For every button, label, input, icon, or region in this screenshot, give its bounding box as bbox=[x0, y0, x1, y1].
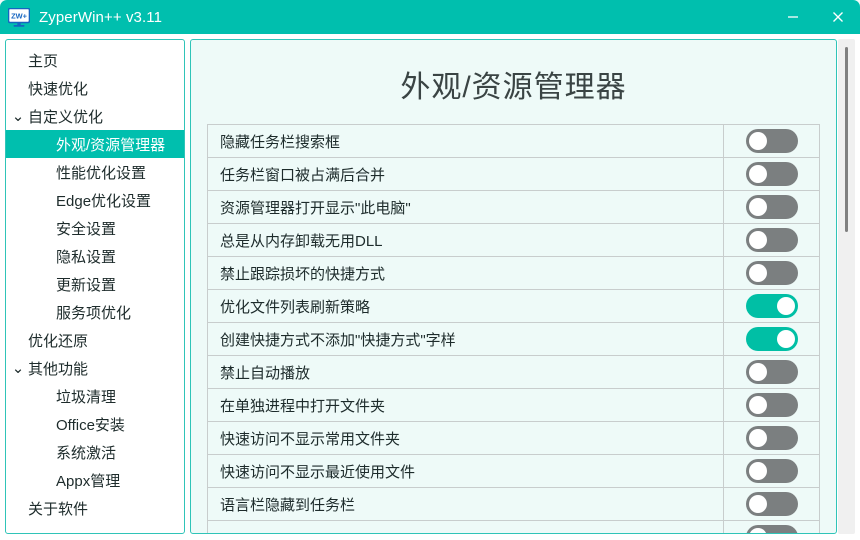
sidebar-item-update-settings[interactable]: 更新设置 bbox=[6, 270, 184, 298]
window-body: 主页快速优化⌄自定义优化外观/资源管理器性能优化设置Edge优化设置安全设置隐私… bbox=[0, 34, 860, 540]
sidebar-item-label: 性能优化设置 bbox=[56, 162, 146, 183]
sidebar-item-quick-optimize[interactable]: 快速优化 bbox=[6, 74, 184, 102]
setting-label: 优化文件列表刷新策略 bbox=[208, 296, 723, 317]
toggle-switch[interactable] bbox=[746, 327, 798, 351]
setting-label: 禁止自动播放 bbox=[208, 362, 723, 383]
sidebar-item-restore[interactable]: 优化还原 bbox=[6, 326, 184, 354]
toggle-knob bbox=[749, 396, 767, 414]
vertical-scrollbar[interactable] bbox=[838, 39, 855, 534]
sidebar-item-other-functions[interactable]: ⌄其他功能 bbox=[6, 354, 184, 382]
toggle-knob bbox=[749, 495, 767, 513]
setting-label: 快速访问不显示最近使用文件 bbox=[208, 461, 723, 482]
setting-toggle-cell[interactable] bbox=[723, 191, 819, 223]
sidebar-item-office-install[interactable]: Office安装 bbox=[6, 410, 184, 438]
close-icon bbox=[831, 10, 845, 24]
settings-table: 隐藏任务栏搜索框任务栏窗口被占满后合并资源管理器打开显示"此电脑"总是从内存卸载… bbox=[207, 124, 820, 533]
setting-toggle-cell[interactable] bbox=[723, 455, 819, 487]
sidebar-nav: 主页快速优化⌄自定义优化外观/资源管理器性能优化设置Edge优化设置安全设置隐私… bbox=[5, 39, 185, 534]
toggle-switch[interactable] bbox=[746, 426, 798, 450]
setting-row: 总是从内存卸载无用DLL bbox=[208, 224, 819, 257]
sidebar-item-label: 隐私设置 bbox=[56, 246, 116, 267]
setting-label: 创建快捷方式不添加"快捷方式"字样 bbox=[208, 329, 723, 350]
toggle-knob bbox=[749, 231, 767, 249]
setting-row: 语言栏隐藏到任务栏 bbox=[208, 488, 819, 521]
setting-row: 禁止跟踪损坏的快捷方式 bbox=[208, 257, 819, 290]
setting-row: 快速访问不显示最近使用文件 bbox=[208, 455, 819, 488]
setting-label: 任务栏窗口被占满后合并 bbox=[208, 164, 723, 185]
sidebar-item-security-settings[interactable]: 安全设置 bbox=[6, 214, 184, 242]
setting-label: 在单独进程中打开文件夹 bbox=[208, 395, 723, 416]
toggle-switch[interactable] bbox=[746, 261, 798, 285]
sidebar-item-label: Edge优化设置 bbox=[56, 190, 151, 211]
setting-toggle-cell[interactable] bbox=[723, 356, 819, 388]
toggle-knob bbox=[749, 165, 767, 183]
sidebar-item-system-activation[interactable]: 系统激活 bbox=[6, 438, 184, 466]
sidebar-item-appx-manage[interactable]: Appx管理 bbox=[6, 466, 184, 494]
setting-label: 语言栏隐藏到任务栏 bbox=[208, 494, 723, 515]
setting-row: 快速访问不显示常用文件夹 bbox=[208, 422, 819, 455]
main-panel: 外观/资源管理器 隐藏任务栏搜索框任务栏窗口被占满后合并资源管理器打开显示"此电… bbox=[190, 39, 837, 534]
toggle-switch[interactable] bbox=[746, 525, 798, 533]
setting-row bbox=[208, 521, 819, 533]
setting-toggle-cell[interactable] bbox=[723, 257, 819, 289]
toggle-knob bbox=[749, 132, 767, 150]
setting-row: 资源管理器打开显示"此电脑" bbox=[208, 191, 819, 224]
toggle-knob bbox=[749, 363, 767, 381]
setting-toggle-cell[interactable] bbox=[723, 488, 819, 520]
chevron-down-icon[interactable]: ⌄ bbox=[8, 359, 28, 377]
sidebar-item-custom-optimize[interactable]: ⌄自定义优化 bbox=[6, 102, 184, 130]
toggle-switch[interactable] bbox=[746, 228, 798, 252]
sidebar-item-about[interactable]: 关于软件 bbox=[6, 494, 184, 522]
toggle-switch[interactable] bbox=[746, 360, 798, 384]
sidebar-item-label: 服务项优化 bbox=[56, 302, 131, 323]
sidebar-item-label: 外观/资源管理器 bbox=[56, 134, 165, 155]
setting-row: 隐藏任务栏搜索框 bbox=[208, 125, 819, 158]
sidebar-item-label: 垃圾清理 bbox=[56, 386, 116, 407]
sidebar-item-label: Office安装 bbox=[56, 414, 125, 435]
toggle-knob bbox=[749, 429, 767, 447]
minimize-icon bbox=[786, 10, 800, 24]
sidebar-item-privacy-settings[interactable]: 隐私设置 bbox=[6, 242, 184, 270]
sidebar-item-edge-settings[interactable]: Edge优化设置 bbox=[6, 186, 184, 214]
sidebar-item-performance-settings[interactable]: 性能优化设置 bbox=[6, 158, 184, 186]
setting-label: 资源管理器打开显示"此电脑" bbox=[208, 197, 723, 218]
setting-row: 禁止自动播放 bbox=[208, 356, 819, 389]
setting-toggle-cell[interactable] bbox=[723, 224, 819, 256]
sidebar-item-label: 安全设置 bbox=[56, 218, 116, 239]
toggle-switch[interactable] bbox=[746, 459, 798, 483]
sidebar-item-label: 关于软件 bbox=[28, 498, 88, 519]
sidebar-item-label: 自定义优化 bbox=[28, 106, 103, 127]
sidebar-item-label: 优化还原 bbox=[28, 330, 88, 351]
toggle-switch[interactable] bbox=[746, 294, 798, 318]
close-button[interactable] bbox=[815, 0, 860, 34]
toggle-switch[interactable] bbox=[746, 393, 798, 417]
setting-row: 优化文件列表刷新策略 bbox=[208, 290, 819, 323]
setting-toggle-cell[interactable] bbox=[723, 125, 819, 157]
toggle-knob bbox=[749, 198, 767, 216]
sidebar-item-label: Appx管理 bbox=[56, 470, 120, 491]
chevron-down-icon[interactable]: ⌄ bbox=[8, 107, 28, 125]
toggle-switch[interactable] bbox=[746, 162, 798, 186]
sidebar-item-label: 其他功能 bbox=[28, 358, 88, 379]
sidebar-item-label: 快速优化 bbox=[28, 78, 88, 99]
setting-row: 任务栏窗口被占满后合并 bbox=[208, 158, 819, 191]
sidebar-item-label: 系统激活 bbox=[56, 442, 116, 463]
toggle-knob bbox=[777, 330, 795, 348]
svg-text:ZW+: ZW+ bbox=[11, 11, 27, 20]
sidebar-item-label: 主页 bbox=[28, 50, 58, 71]
setting-label: 禁止跟踪损坏的快捷方式 bbox=[208, 263, 723, 284]
app-window: ZW+ ZyperWin++ v3.11 主页快速优化⌄自定义优化外观/资源管理… bbox=[0, 0, 860, 540]
setting-label: 总是从内存卸载无用DLL bbox=[208, 230, 723, 251]
setting-toggle-cell[interactable] bbox=[723, 422, 819, 454]
page-title: 外观/资源管理器 bbox=[191, 40, 836, 124]
setting-toggle-cell[interactable] bbox=[723, 389, 819, 421]
window-title: ZyperWin++ v3.11 bbox=[39, 9, 162, 26]
setting-toggle-cell[interactable] bbox=[723, 158, 819, 190]
scrollbar-thumb[interactable] bbox=[845, 47, 848, 232]
toggle-switch[interactable] bbox=[746, 129, 798, 153]
toggle-knob bbox=[777, 297, 795, 315]
monitor-zw-plus-icon: ZW+ bbox=[8, 8, 30, 27]
setting-toggle-cell[interactable] bbox=[723, 323, 819, 355]
setting-toggle-cell[interactable] bbox=[723, 521, 819, 533]
minimize-button[interactable] bbox=[770, 0, 815, 34]
toggle-knob bbox=[749, 264, 767, 282]
setting-label: 隐藏任务栏搜索框 bbox=[208, 131, 723, 152]
toggle-knob bbox=[749, 462, 767, 480]
toggle-knob bbox=[749, 528, 767, 533]
setting-row: 创建快捷方式不添加"快捷方式"字样 bbox=[208, 323, 819, 356]
window-controls bbox=[770, 0, 860, 34]
toggle-switch[interactable] bbox=[746, 195, 798, 219]
sidebar-item-label: 更新设置 bbox=[56, 274, 116, 295]
sidebar-item-appearance-explorer[interactable]: 外观/资源管理器 bbox=[6, 130, 184, 158]
sidebar-item-service-optimize[interactable]: 服务项优化 bbox=[6, 298, 184, 326]
settings-scroll-area: 隐藏任务栏搜索框任务栏窗口被占满后合并资源管理器打开显示"此电脑"总是从内存卸载… bbox=[191, 124, 836, 533]
title-bar[interactable]: ZW+ ZyperWin++ v3.11 bbox=[0, 0, 860, 34]
setting-row: 在单独进程中打开文件夹 bbox=[208, 389, 819, 422]
setting-label: 快速访问不显示常用文件夹 bbox=[208, 428, 723, 449]
toggle-switch[interactable] bbox=[746, 492, 798, 516]
sidebar-item-junk-cleanup[interactable]: 垃圾清理 bbox=[6, 382, 184, 410]
sidebar-item-home[interactable]: 主页 bbox=[6, 46, 184, 74]
setting-toggle-cell[interactable] bbox=[723, 290, 819, 322]
